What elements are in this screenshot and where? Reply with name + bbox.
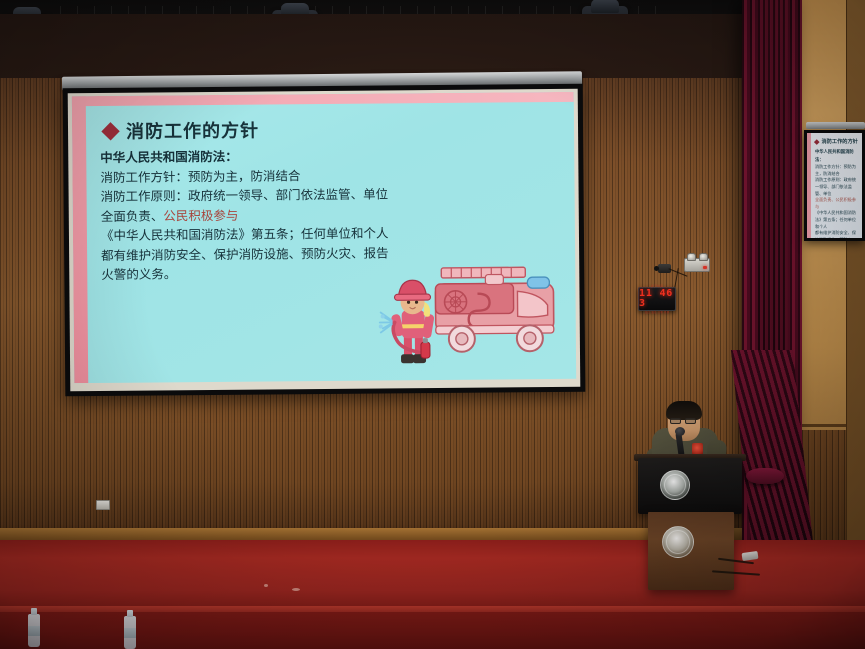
secondary-monitor-slide: 消防工作的方针 中华人民共和国消防法： 消防工作方针：预防为主，防消结合 消防工… — [807, 133, 862, 238]
right-wall-column — [846, 0, 865, 560]
secondary-line-5: 都有维护消防安全、保护消防设施、预防火灾、报告 — [815, 230, 858, 238]
podium-upper-panel — [638, 458, 742, 514]
slide-line-3-plain: 全面负责、 — [101, 208, 164, 224]
secondary-diamond-bullet-icon — [814, 139, 819, 144]
wall-outlet — [96, 500, 110, 510]
secondary-line-3: 全面负责、公民积极参与 — [815, 197, 858, 210]
curtain-tieback — [746, 468, 784, 484]
screen-mat: 消防工作的方针 中华人民共和国消防法： 消防工作方针：预防为主，防消结合 消防工… — [68, 89, 581, 391]
emergency-lamp-right — [699, 253, 708, 261]
secondary-monitor-housing — [806, 122, 865, 129]
slide-top-band — [72, 92, 574, 106]
lens-right — [685, 418, 696, 424]
led-clock: 北京时间 11 46 3 温度 湿度 日期 星期 — [638, 287, 676, 311]
floor-debris-1 — [292, 588, 300, 591]
secondary-line-1: 消防工作方针：预防为主，防消结合 — [815, 164, 858, 177]
secondary-slide-title: 消防工作的方针 — [822, 138, 858, 145]
slide-line-3-highlight: 公民积极参与 — [163, 207, 238, 223]
secondary-line-2: 消防工作原则：政府统一领导、部门依法监管、单位 — [815, 177, 858, 197]
slide-title: 消防工作的方针 — [126, 117, 259, 144]
water-bottle-1 — [28, 614, 40, 647]
slide-left-band — [72, 96, 89, 383]
stage-floor-upper — [0, 540, 865, 612]
bottle-label-1 — [28, 626, 40, 636]
emergency-led-indicator — [703, 266, 707, 269]
podium-emblem-upper-icon — [660, 470, 690, 500]
floor-debris-2 — [264, 584, 268, 587]
clock-time-display: 11 46 3 — [639, 289, 675, 309]
secondary-monitor: 消防工作的方针 中华人民共和国消防法： 消防工作方针：预防为主，防消结合 消防工… — [804, 130, 865, 241]
bottle-label-2 — [124, 628, 136, 638]
projection-screen: 消防工作的方针 中华人民共和国消防法： 消防工作方针：预防为主，防消结合 消防工… — [63, 84, 586, 397]
microphone-head — [675, 427, 685, 436]
secondary-slide-band — [807, 133, 811, 238]
auditorium-scene: 消防工作的方针 中华人民共和国消防法： 消防工作方针：预防为主，防消结合 消防工… — [0, 0, 865, 649]
emergency-lamp-left — [687, 253, 696, 261]
clock-label-top: 北京时间 — [651, 284, 663, 288]
eyeglasses-icon — [670, 418, 698, 424]
secondary-slide-body: 中华人民共和国消防法： 消防工作方针：预防为主，防消结合 消防工作原则：政府统一… — [815, 149, 858, 238]
firefighter-and-fire-truck-illustration — [377, 243, 568, 375]
diamond-bullet-icon — [101, 122, 119, 140]
secondary-slide-title-row: 消防工作的方针 — [815, 138, 858, 145]
slide-title-row: 消防工作的方针 — [104, 117, 259, 144]
secondary-line-4: 《中华人民共和国消防法》第五条；任何单位和个人 — [815, 210, 858, 230]
secondary-line-0: 中华人民共和国消防法： — [815, 150, 854, 163]
lens-left — [670, 418, 681, 424]
emergency-light-unit — [684, 258, 710, 272]
podium-emblem-lower-icon — [662, 526, 694, 558]
clock-label-bottom: 温度 湿度 日期 星期 — [645, 310, 670, 314]
presentation-slide: 消防工作的方针 中华人民共和国消防法： 消防工作方针：预防为主，防消结合 消防工… — [72, 92, 576, 383]
water-bottle-2 — [124, 616, 136, 649]
